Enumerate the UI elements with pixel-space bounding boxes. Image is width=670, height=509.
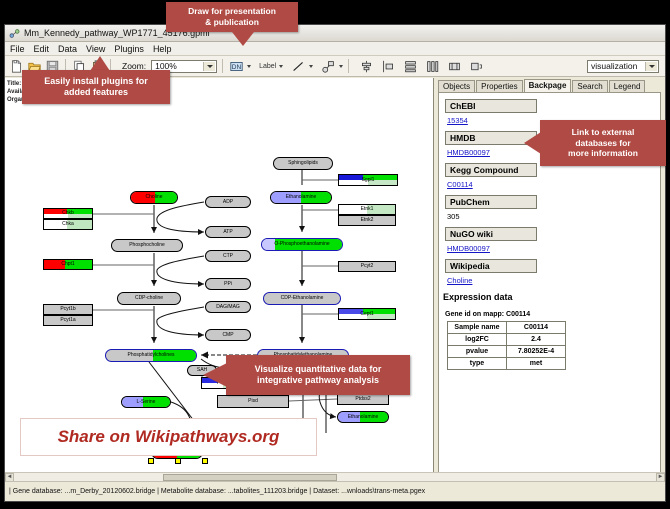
db-value-nugo-wiki[interactable]: HMDB00097 xyxy=(447,244,660,253)
db-value-pubchem: 305 xyxy=(447,212,660,221)
callout-visualize: Visualize quantitative data for integrat… xyxy=(226,355,410,395)
selection-handle[interactable] xyxy=(202,458,208,464)
node-label: Ethanolamine xyxy=(286,195,317,200)
callout-links-line1: Link to external xyxy=(572,127,635,137)
group-icon[interactable] xyxy=(446,58,462,74)
distribute-icon[interactable] xyxy=(424,58,440,74)
gene-node-etnk2[interactable]: Etnk2 xyxy=(338,215,396,226)
db-value-wikipedia[interactable]: Choline xyxy=(447,276,660,285)
callout-visualize-line2: integrative pathway analysis xyxy=(257,375,379,385)
menu-item-file[interactable]: File xyxy=(10,44,25,54)
node-label: Pcyt2 xyxy=(361,264,374,269)
expr-key: Sample name xyxy=(448,322,507,334)
callout-plugins-line1: Easily install plugins for xyxy=(44,76,148,86)
chevron-down-icon[interactable] xyxy=(645,62,657,71)
gene-node-etnk1[interactable]: Etnk1 xyxy=(338,204,396,215)
datanode-dropdown-icon[interactable] xyxy=(247,65,251,68)
gene-node-pcyt1a[interactable]: Pcyt1a xyxy=(43,315,93,326)
callout-links-line2: databases for xyxy=(575,138,630,148)
metabolite-node-choline-top[interactable]: Choline xyxy=(130,191,178,204)
selection-handle[interactable] xyxy=(148,458,154,464)
node-label: Chkb xyxy=(62,211,74,216)
metabolite-node-dagmag[interactable]: DAG/MAG xyxy=(205,301,251,313)
db-header-kegg-compound: Kegg Compound xyxy=(445,163,537,177)
menu-item-data[interactable]: Data xyxy=(58,44,77,54)
gene-id-label: Gene id on mapp: C00114 xyxy=(445,311,660,318)
node-label: DAG/MAG xyxy=(216,305,240,310)
db-value-kegg-compound[interactable]: C00114 xyxy=(447,180,660,189)
expr-key: pvalue xyxy=(448,346,507,358)
shape-dropdown-icon[interactable] xyxy=(339,65,343,68)
callout-draw-arrow-icon xyxy=(232,32,254,46)
visualization-value: visualization xyxy=(591,61,637,71)
node-label: Sphingolipids xyxy=(288,161,318,166)
expr-value: C00114 xyxy=(507,322,566,334)
metabolite-node-atp[interactable]: ATP xyxy=(205,226,251,238)
metabolite-node-ethanolamine-right[interactable]: Ethanolamine xyxy=(337,411,389,423)
gene-node-sgpl1[interactable]: Sgpl1 xyxy=(338,174,398,186)
metabolite-node-cdp-choline[interactable]: CDP-choline xyxy=(117,292,181,305)
status-bar: | Gene database: ...m_Derby_20120602.bri… xyxy=(5,481,665,501)
line-tool-icon[interactable] xyxy=(290,58,306,74)
metabolite-node-phosphocholine[interactable]: Phosphocholine xyxy=(111,239,183,252)
toolbar-separator xyxy=(222,59,223,73)
metabolite-node-cdp-ethanolamine[interactable]: CDP-Ethanolamine xyxy=(263,292,341,305)
ungroup-icon[interactable] xyxy=(468,58,484,74)
node-label: CDP-Ethanolamine xyxy=(281,296,324,301)
callout-links: Link to external databases for more info… xyxy=(540,120,666,166)
gene-node-chka[interactable]: Chka xyxy=(43,219,93,230)
status-text: | Gene database: ...m_Derby_20120602.bri… xyxy=(5,488,425,495)
callout-visualize-arrow-icon xyxy=(203,363,227,387)
align-center-icon[interactable] xyxy=(358,58,374,74)
node-label: O-Phosphoethanolamine xyxy=(274,242,329,247)
metabolite-node-o-phosphoethanolamine[interactable]: O-Phosphoethanolamine xyxy=(261,238,343,251)
menu-item-edit[interactable]: Edit xyxy=(34,44,50,54)
selection-handle[interactable] xyxy=(175,458,181,464)
label-dropdown-icon[interactable] xyxy=(279,65,283,68)
node-label: Etnk2 xyxy=(361,218,374,223)
menu-bar[interactable]: File Edit Data View Plugins Help xyxy=(5,42,665,56)
callout-draw-line2: & publication xyxy=(205,17,259,27)
table-row: log2FC2.4 xyxy=(448,334,566,346)
tab-backpage[interactable]: Backpage xyxy=(524,79,572,93)
callout-draw: Draw for presentation & publication xyxy=(166,2,298,32)
callout-plugins-arrow-icon xyxy=(90,56,110,71)
menu-item-view[interactable]: View xyxy=(86,44,105,54)
node-label: CMP xyxy=(222,333,233,338)
db-header-wikipedia: Wikipedia xyxy=(445,259,537,273)
title-bar: Mm_Kennedy_pathway_WP1771_45176.gpml xyxy=(5,25,665,42)
callout-links-line3: more information xyxy=(568,148,638,158)
visualization-combobox[interactable]: visualization xyxy=(587,60,659,73)
expr-value: 2.4 xyxy=(507,334,566,346)
menu-item-help[interactable]: Help xyxy=(153,44,172,54)
metabolite-node-ctp[interactable]: CTP xyxy=(205,250,251,262)
callout-plugins: Easily install plugins for added feature… xyxy=(22,70,170,104)
node-label: Chka xyxy=(62,222,74,227)
metabolite-node-cmp[interactable]: CMP xyxy=(205,329,251,341)
align-left-icon[interactable] xyxy=(380,58,396,74)
label-tool-label[interactable]: Label xyxy=(259,63,276,70)
db-header-nugo-wiki: NuGO wiki xyxy=(445,227,537,241)
metabolite-node-adp[interactable]: ADP xyxy=(205,196,251,208)
expr-key: type xyxy=(448,358,507,370)
expression-heading: Expression data xyxy=(443,292,660,302)
menu-item-plugins[interactable]: Plugins xyxy=(114,44,144,54)
node-label: L-Serine xyxy=(137,400,156,405)
node-fill xyxy=(262,239,275,250)
callout-plugins-line2: added features xyxy=(64,87,128,97)
node-label: ADP xyxy=(223,200,233,205)
node-label: Chpt1 xyxy=(61,262,74,267)
node-label: CDP-choline xyxy=(135,296,163,301)
metabolite-node-ethanolamine-top[interactable]: Ethanolamine xyxy=(270,191,332,204)
db-header-pubchem: PubChem xyxy=(445,195,537,209)
node-label: Sgpl1 xyxy=(362,178,375,183)
callout-draw-line1: Draw for presentation xyxy=(188,6,276,16)
gene-node-pcyt1b[interactable]: Pcyt1b xyxy=(43,304,93,315)
node-label: Pcyt1a xyxy=(60,318,75,323)
stack-icon[interactable] xyxy=(402,58,418,74)
node-label: Pisd xyxy=(248,399,258,404)
svg-text:DN: DN xyxy=(231,63,241,70)
node-label: CTP xyxy=(223,254,233,259)
callout-share: Share on Wikipathways.org xyxy=(20,418,317,456)
db-header-chebi: ChEBI xyxy=(445,99,537,113)
metabolite-node-ppi[interactable]: PPi xyxy=(205,278,251,290)
pathvisio-icon xyxy=(9,28,20,39)
node-label: PPi xyxy=(224,282,232,287)
datanode-icon[interactable]: DN xyxy=(228,58,244,74)
node-label: Cept1 xyxy=(360,312,373,317)
expr-value: met xyxy=(507,358,566,370)
node-label: Pcyt1b xyxy=(60,307,75,312)
node-label: ATP xyxy=(223,230,232,235)
scrollbar-thumb[interactable] xyxy=(163,474,337,481)
gene-node-chpt1[interactable]: Chpt1 xyxy=(43,259,93,270)
table-row: pvalue7.80252E-4 xyxy=(448,346,566,358)
node-label: Etnk1 xyxy=(361,207,374,212)
metabolite-node-sphingolipids[interactable]: Sphingolipids xyxy=(273,157,333,170)
table-row: Sample nameC00114 xyxy=(448,322,566,334)
gene-node-cept1[interactable]: Cept1 xyxy=(338,308,396,320)
line-dropdown-icon[interactable] xyxy=(309,65,313,68)
metabolite-node-phosphatidylcholines[interactable]: Phosphatidylcholines xyxy=(105,349,197,362)
gene-node-chkb[interactable]: Chkb xyxy=(43,208,93,219)
node-label: Phosphatidylcholines xyxy=(128,353,175,358)
gene-node-pisd[interactable]: Pisd xyxy=(217,395,289,408)
screenshot-root: Mm_Kennedy_pathway_WP1771_45176.gpml Fil… xyxy=(0,0,670,509)
table-row: typemet xyxy=(448,358,566,370)
chevron-down-icon[interactable] xyxy=(203,62,215,71)
callout-links-arrow-icon xyxy=(524,132,541,154)
node-label: Ptdss2 xyxy=(355,397,370,402)
shape-tool-icon[interactable] xyxy=(320,58,336,74)
callout-visualize-line1: Visualize quantitative data for xyxy=(255,364,382,374)
node-label: Choline xyxy=(146,195,163,200)
gene-node-pcyt2[interactable]: Pcyt2 xyxy=(338,261,396,272)
toolbar-separator xyxy=(348,59,349,73)
node-label: Ethanolamine xyxy=(348,415,379,420)
expr-value: 7.80252E-4 xyxy=(507,346,566,358)
node-label: Phosphocholine xyxy=(129,243,165,248)
expression-table: Sample nameC00114log2FC2.4pvalue7.80252E… xyxy=(447,321,566,370)
expr-key: log2FC xyxy=(448,334,507,346)
metabolite-node-l-serine-left[interactable]: L-Serine xyxy=(121,396,171,408)
